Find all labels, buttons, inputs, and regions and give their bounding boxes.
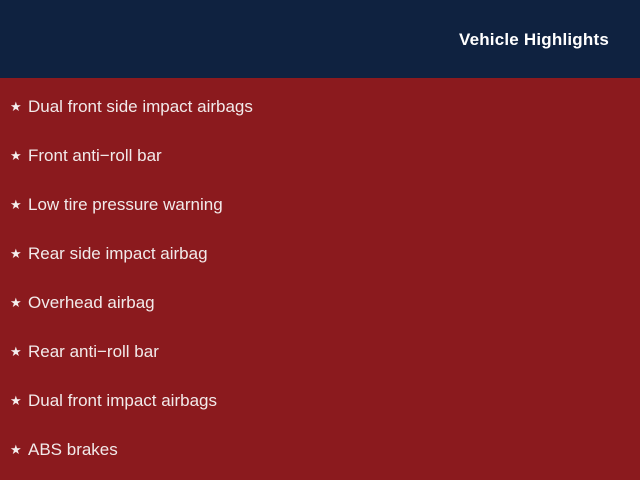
vehicle-highlights-slide: Vehicle Highlights ★ Dual front side imp… [0, 0, 640, 480]
list-item: ★ Overhead airbag [10, 291, 155, 313]
star-icon: ★ [10, 345, 28, 358]
page-title: Vehicle Highlights [459, 31, 609, 48]
list-item: ★ Low tire pressure warning [10, 193, 223, 215]
star-icon: ★ [10, 198, 28, 211]
list-item-label: Rear anti−roll bar [28, 343, 159, 360]
star-icon: ★ [10, 443, 28, 456]
list-item-label: Front anti−roll bar [28, 147, 162, 164]
list-item-label: Overhead airbag [28, 294, 155, 311]
star-icon: ★ [10, 149, 28, 162]
list-item: ★ Rear side impact airbag [10, 242, 208, 264]
header-band: Vehicle Highlights [0, 0, 640, 78]
list-item-label: Dual front side impact airbags [28, 98, 253, 115]
list-item: ★ Dual front side impact airbags [10, 95, 253, 117]
list-item: ★ Front anti−roll bar [10, 144, 162, 166]
list-item-label: Low tire pressure warning [28, 196, 223, 213]
list-item-label: Dual front impact airbags [28, 392, 217, 409]
star-icon: ★ [10, 296, 28, 309]
star-icon: ★ [10, 394, 28, 407]
list-item: ★ ABS brakes [10, 438, 118, 460]
highlights-panel: ★ Dual front side impact airbags ★ Front… [0, 78, 640, 480]
star-icon: ★ [10, 247, 28, 260]
list-item: ★ Dual front impact airbags [10, 389, 217, 411]
list-item-label: ABS brakes [28, 441, 118, 458]
list-item: ★ Rear anti−roll bar [10, 340, 159, 362]
list-item-label: Rear side impact airbag [28, 245, 208, 262]
star-icon: ★ [10, 100, 28, 113]
